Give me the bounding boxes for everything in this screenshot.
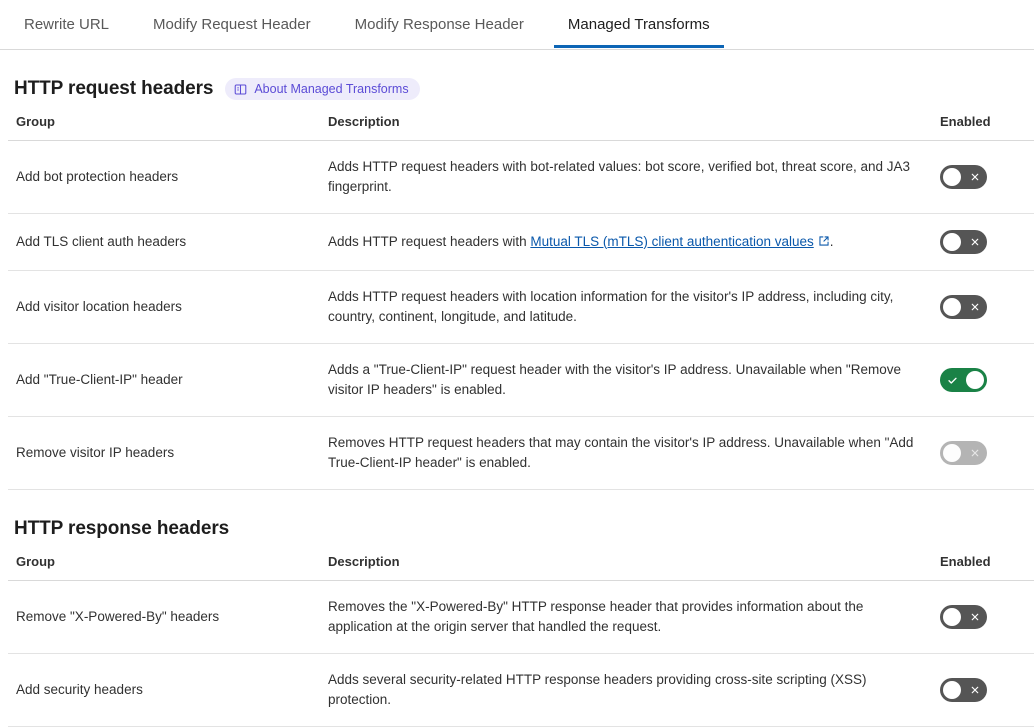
toggle-knob [943, 608, 961, 626]
toggle-knob [943, 444, 961, 462]
page-content: HTTP request headersAbout Managed Transf… [0, 78, 1034, 727]
table-header-row: GroupDescriptionEnabled [8, 554, 1034, 581]
external-link-icon [818, 233, 830, 253]
section-1: HTTP response headersGroupDescriptionEna… [8, 518, 1026, 727]
badge-label: About Managed Transforms [254, 82, 408, 96]
column-header-group: Group [8, 554, 320, 581]
close-icon [970, 678, 980, 702]
row-group-name: Remove visitor IP headers [8, 417, 320, 490]
enabled-toggle [940, 441, 987, 465]
table-header-row: GroupDescriptionEnabled [8, 114, 1034, 141]
enabled-toggle[interactable] [940, 230, 987, 254]
description-text: Removes the "X-Powered-By" HTTP response… [328, 597, 924, 637]
tab-modify-request-header[interactable]: Modify Request Header [139, 0, 325, 48]
row-description: Removes HTTP request headers that may co… [320, 417, 932, 490]
row-enabled-cell [932, 581, 1034, 654]
book-icon [234, 83, 247, 96]
toggle-knob [943, 233, 961, 251]
enabled-toggle[interactable] [940, 368, 987, 392]
row-group-name: Add security headers [8, 654, 320, 727]
section-0: HTTP request headersAbout Managed Transf… [8, 78, 1026, 490]
enabled-toggle[interactable] [940, 165, 987, 189]
description-text-before: Adds HTTP request headers with [328, 234, 530, 249]
enabled-toggle[interactable] [940, 678, 987, 702]
row-enabled-cell [932, 271, 1034, 344]
description-text: Adds HTTP request headers with location … [328, 287, 924, 327]
column-header-group: Group [8, 114, 320, 141]
description-text-after: . [830, 234, 834, 249]
close-icon [970, 441, 980, 465]
row-group-name: Add bot protection headers [8, 141, 320, 214]
description-text: Adds HTTP request headers with bot-relat… [328, 157, 924, 197]
row-description: Adds a "True-Client-IP" request header w… [320, 344, 932, 417]
tab-bar: Rewrite URLModify Request HeaderModify R… [0, 0, 1034, 50]
row-description: Adds HTTP request headers with location … [320, 271, 932, 344]
row-enabled-cell [932, 141, 1034, 214]
table-row: Add bot protection headersAdds HTTP requ… [8, 141, 1034, 214]
row-description: Adds HTTP request headers with Mutual TL… [320, 214, 932, 271]
table-row: Remove "X-Powered-By" headersRemoves the… [8, 581, 1034, 654]
column-header-enabled: Enabled [932, 554, 1034, 581]
row-group-name: Remove "X-Powered-By" headers [8, 581, 320, 654]
about-managed-transforms-badge[interactable]: About Managed Transforms [225, 78, 419, 100]
row-enabled-cell [932, 214, 1034, 271]
row-enabled-cell [932, 654, 1034, 727]
table-row: Add visitor location headersAdds HTTP re… [8, 271, 1034, 344]
description-text: Adds several security-related HTTP respo… [328, 670, 924, 710]
row-group-name: Add visitor location headers [8, 271, 320, 344]
tab-managed-transforms[interactable]: Managed Transforms [554, 0, 724, 48]
close-icon [970, 230, 980, 254]
section-header: HTTP request headersAbout Managed Transf… [14, 78, 1026, 100]
close-icon [970, 295, 980, 319]
description-text: Removes HTTP request headers that may co… [328, 433, 924, 473]
toggle-knob [943, 298, 961, 316]
row-description: Adds HTTP request headers with bot-relat… [320, 141, 932, 214]
row-enabled-cell [932, 417, 1034, 490]
table-row: Add TLS client auth headersAdds HTTP req… [8, 214, 1034, 271]
managed-transforms-table: GroupDescriptionEnabledAdd bot protectio… [8, 114, 1034, 490]
column-header-description: Description [320, 554, 932, 581]
check-icon [947, 368, 958, 392]
close-icon [970, 605, 980, 629]
row-group-name: Add TLS client auth headers [8, 214, 320, 271]
managed-transforms-table: GroupDescriptionEnabledRemove "X-Powered… [8, 554, 1034, 727]
tab-modify-response-header[interactable]: Modify Response Header [341, 0, 538, 48]
toggle-knob [943, 681, 961, 699]
row-description: Removes the "X-Powered-By" HTTP response… [320, 581, 932, 654]
enabled-toggle[interactable] [940, 295, 987, 319]
tab-rewrite-url[interactable]: Rewrite URL [10, 0, 123, 48]
row-description: Adds several security-related HTTP respo… [320, 654, 932, 727]
section-header: HTTP response headers [14, 518, 1026, 540]
table-row: Add "True-Client-IP" headerAdds a "True-… [8, 344, 1034, 417]
column-header-description: Description [320, 114, 932, 141]
description-text: Adds a "True-Client-IP" request header w… [328, 360, 924, 400]
enabled-toggle[interactable] [940, 605, 987, 629]
row-enabled-cell [932, 344, 1034, 417]
toggle-knob [966, 371, 984, 389]
close-icon [970, 165, 980, 189]
section-title: HTTP request headers [14, 78, 213, 100]
table-row: Remove visitor IP headersRemoves HTTP re… [8, 417, 1034, 490]
row-group-name: Add "True-Client-IP" header [8, 344, 320, 417]
column-header-enabled: Enabled [932, 114, 1034, 141]
section-title: HTTP response headers [14, 518, 229, 540]
mtls-documentation-link[interactable]: Mutual TLS (mTLS) client authentication … [530, 234, 813, 249]
table-row: Add security headersAdds several securit… [8, 654, 1034, 727]
toggle-knob [943, 168, 961, 186]
